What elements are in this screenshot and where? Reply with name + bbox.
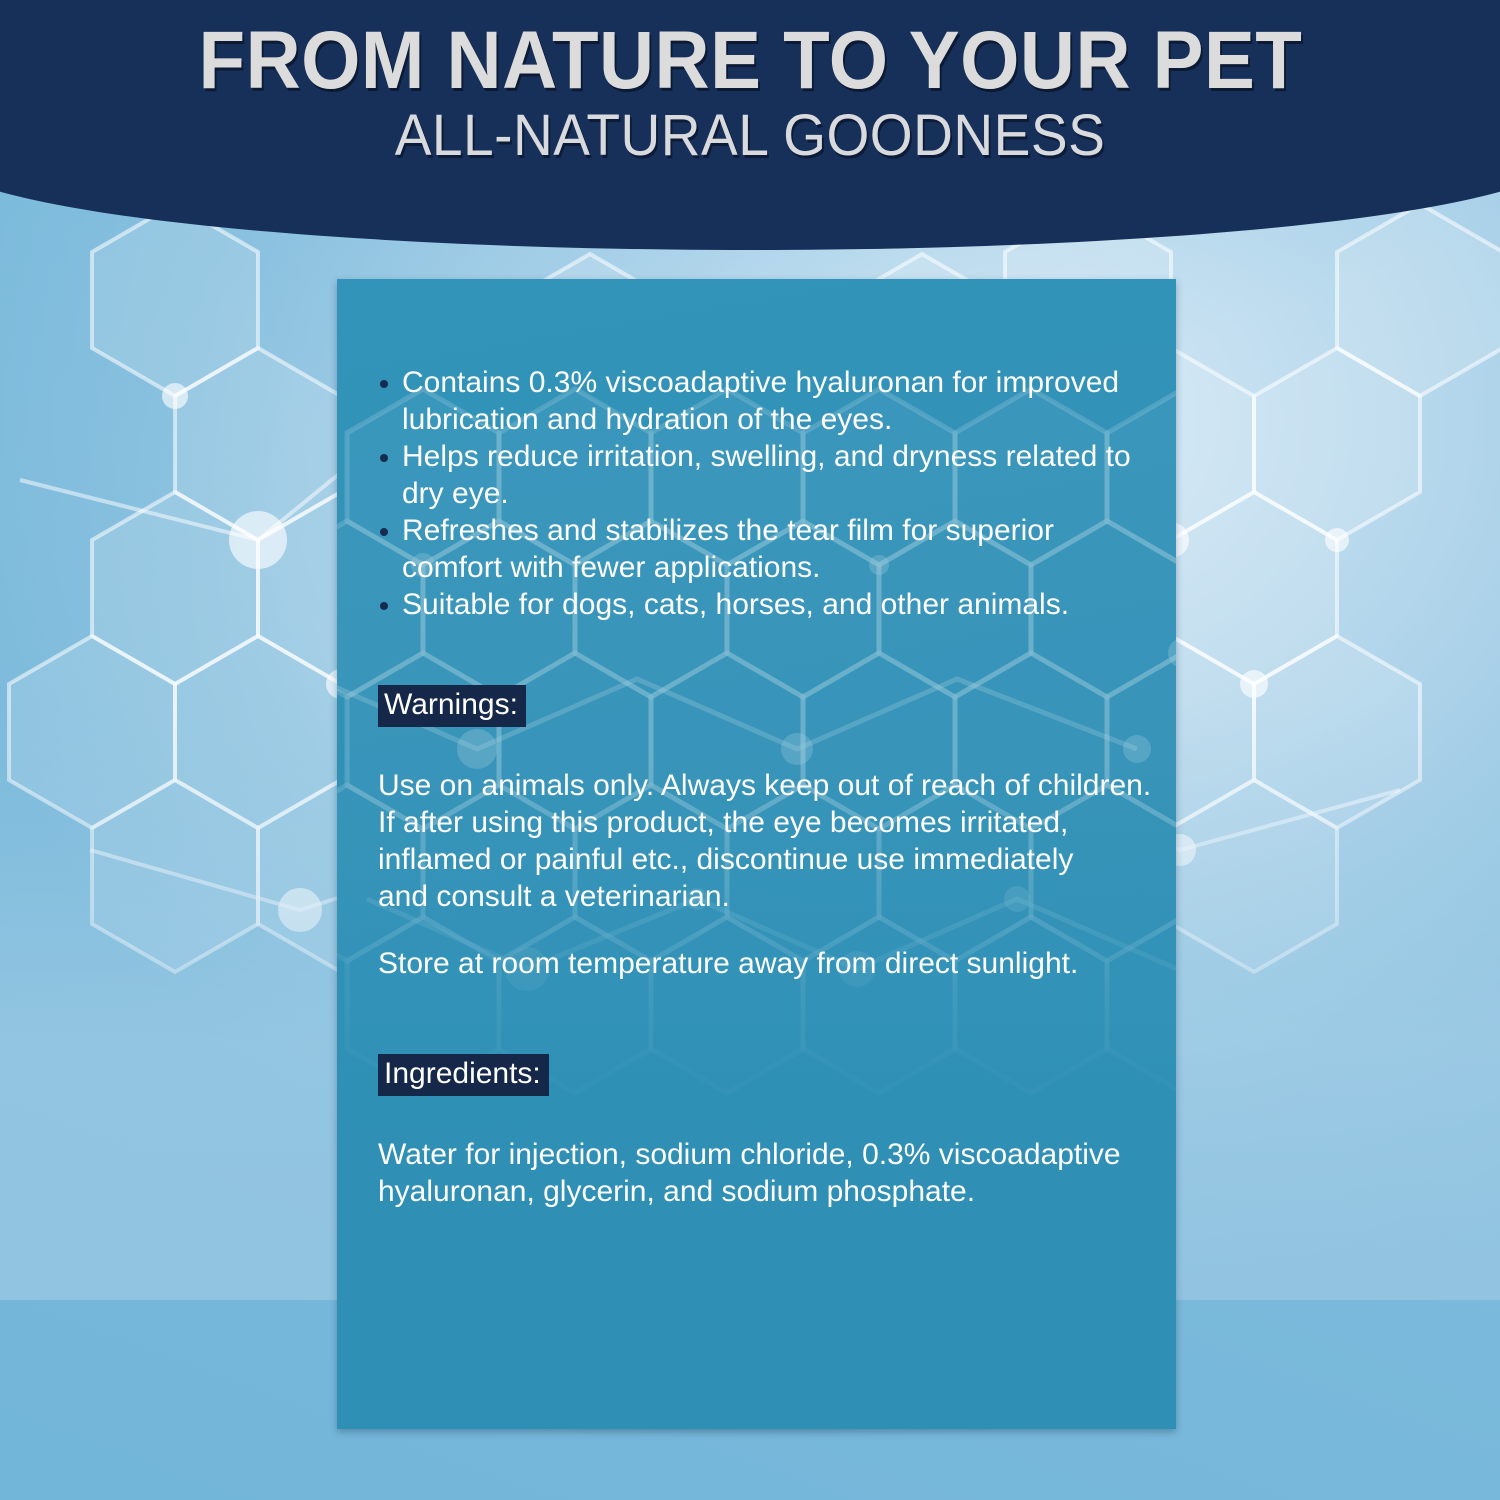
benefits-list: Contains 0.3% viscoadaptive hyaluronan f… (378, 364, 1152, 623)
list-item: Contains 0.3% viscoadaptive hyaluronan f… (378, 364, 1152, 438)
warnings-label: Warnings: (378, 685, 526, 727)
spacer (378, 982, 1152, 1054)
product-info-panel: Contains 0.3% viscoadaptive hyaluronan f… (337, 279, 1176, 1429)
page-title: FROM NATURE TO YOUR PET (198, 0, 1302, 99)
ingredients-label: Ingredients: (378, 1054, 549, 1096)
list-item: Helps reduce irritation, swelling, and d… (378, 438, 1152, 512)
spacer (378, 727, 1152, 767)
warnings-body: Use on animals only. Always keep out of … (378, 767, 1152, 915)
header-banner: FROM NATURE TO YOUR PET ALL-NATURAL GOOD… (0, 0, 1500, 250)
spacer (378, 915, 1152, 945)
spacer (378, 623, 1152, 685)
panel-content: Contains 0.3% viscoadaptive hyaluronan f… (378, 364, 1152, 1210)
spacer (378, 1096, 1152, 1136)
page-subtitle: ALL-NATURAL GOODNESS (395, 99, 1106, 165)
list-item: Refreshes and stabilizes the tear film f… (378, 512, 1152, 586)
storage-text: Store at room temperature away from dire… (378, 945, 1152, 982)
product-infographic: FROM NATURE TO YOUR PET ALL-NATURAL GOOD… (0, 0, 1500, 1500)
ingredients-body: Water for injection, sodium chloride, 0.… (378, 1136, 1152, 1210)
warnings-section: Warnings: Use on animals only. Always ke… (378, 685, 1152, 982)
ingredients-section: Ingredients: Water for injection, sodium… (378, 1054, 1152, 1210)
list-item: Suitable for dogs, cats, horses, and oth… (378, 586, 1152, 623)
